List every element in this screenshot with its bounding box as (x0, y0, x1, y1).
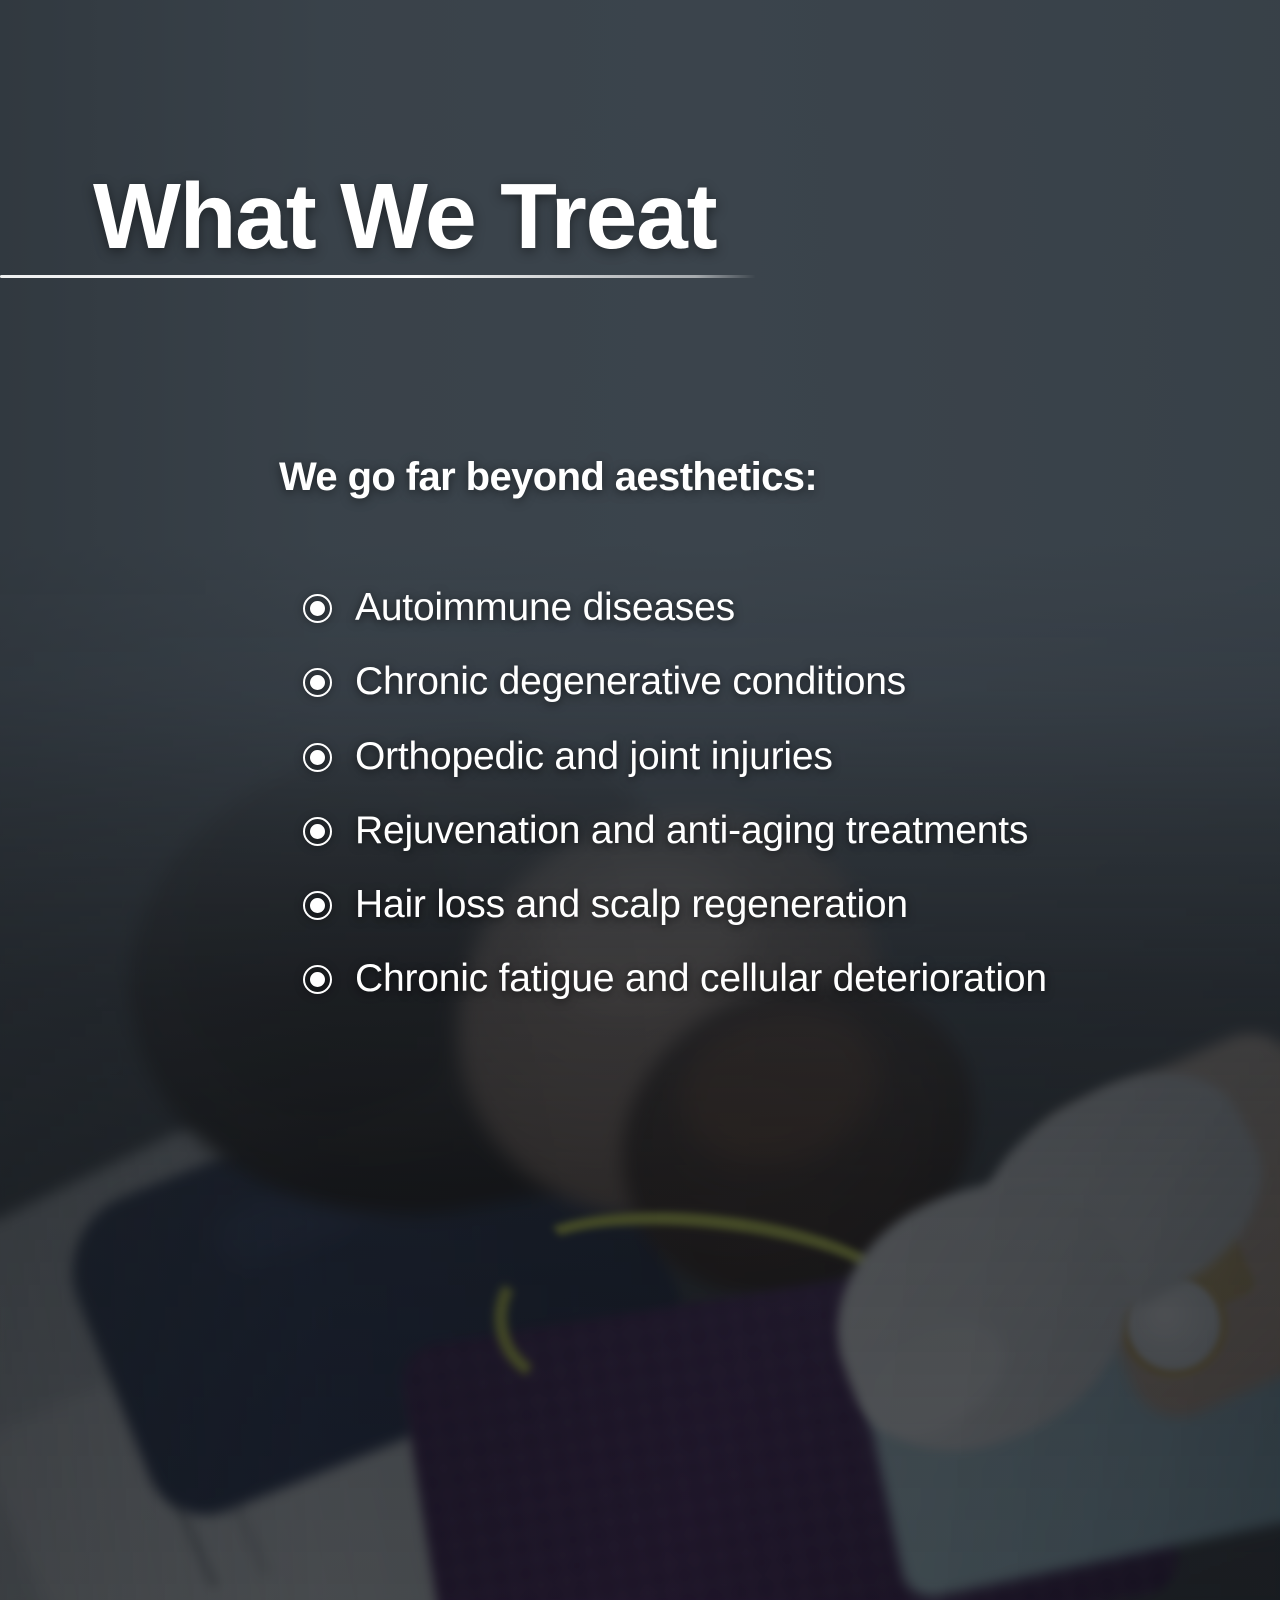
list-item: Hair loss and scalp regeneration (303, 880, 1063, 930)
radio-dot-icon (303, 891, 332, 920)
list-item-label: Rejuvenation and anti-aging treatments (355, 806, 1028, 856)
treatment-list: Autoimmune diseases Chronic degenerative… (303, 583, 1063, 1029)
list-item-label: Chronic degenerative conditions (355, 657, 906, 707)
content-layer: What We Treat We go far beyond aesthetic… (0, 0, 1280, 1600)
radio-dot-icon (303, 743, 332, 772)
list-item-label: Autoimmune diseases (355, 583, 735, 633)
list-item-label: Chronic fatigue and cellular deteriorati… (355, 954, 1047, 1004)
page-title: What We Treat (93, 168, 716, 265)
radio-dot-icon (303, 594, 332, 623)
list-item-label: Hair loss and scalp regeneration (355, 880, 908, 930)
poster-canvas: What We Treat We go far beyond aesthetic… (0, 0, 1280, 1600)
title-divider (0, 275, 756, 278)
list-item: Chronic fatigue and cellular deteriorati… (303, 954, 1063, 1004)
section-subtitle: We go far beyond aesthetics: (279, 455, 817, 500)
list-item: Chronic degenerative conditions (303, 657, 1063, 707)
list-item: Orthopedic and joint injuries (303, 732, 1063, 782)
radio-dot-icon (303, 668, 332, 697)
list-item: Rejuvenation and anti-aging treatments (303, 806, 1063, 856)
radio-dot-icon (303, 965, 332, 994)
radio-dot-icon (303, 817, 332, 846)
list-item: Autoimmune diseases (303, 583, 1063, 633)
list-item-label: Orthopedic and joint injuries (355, 732, 833, 782)
